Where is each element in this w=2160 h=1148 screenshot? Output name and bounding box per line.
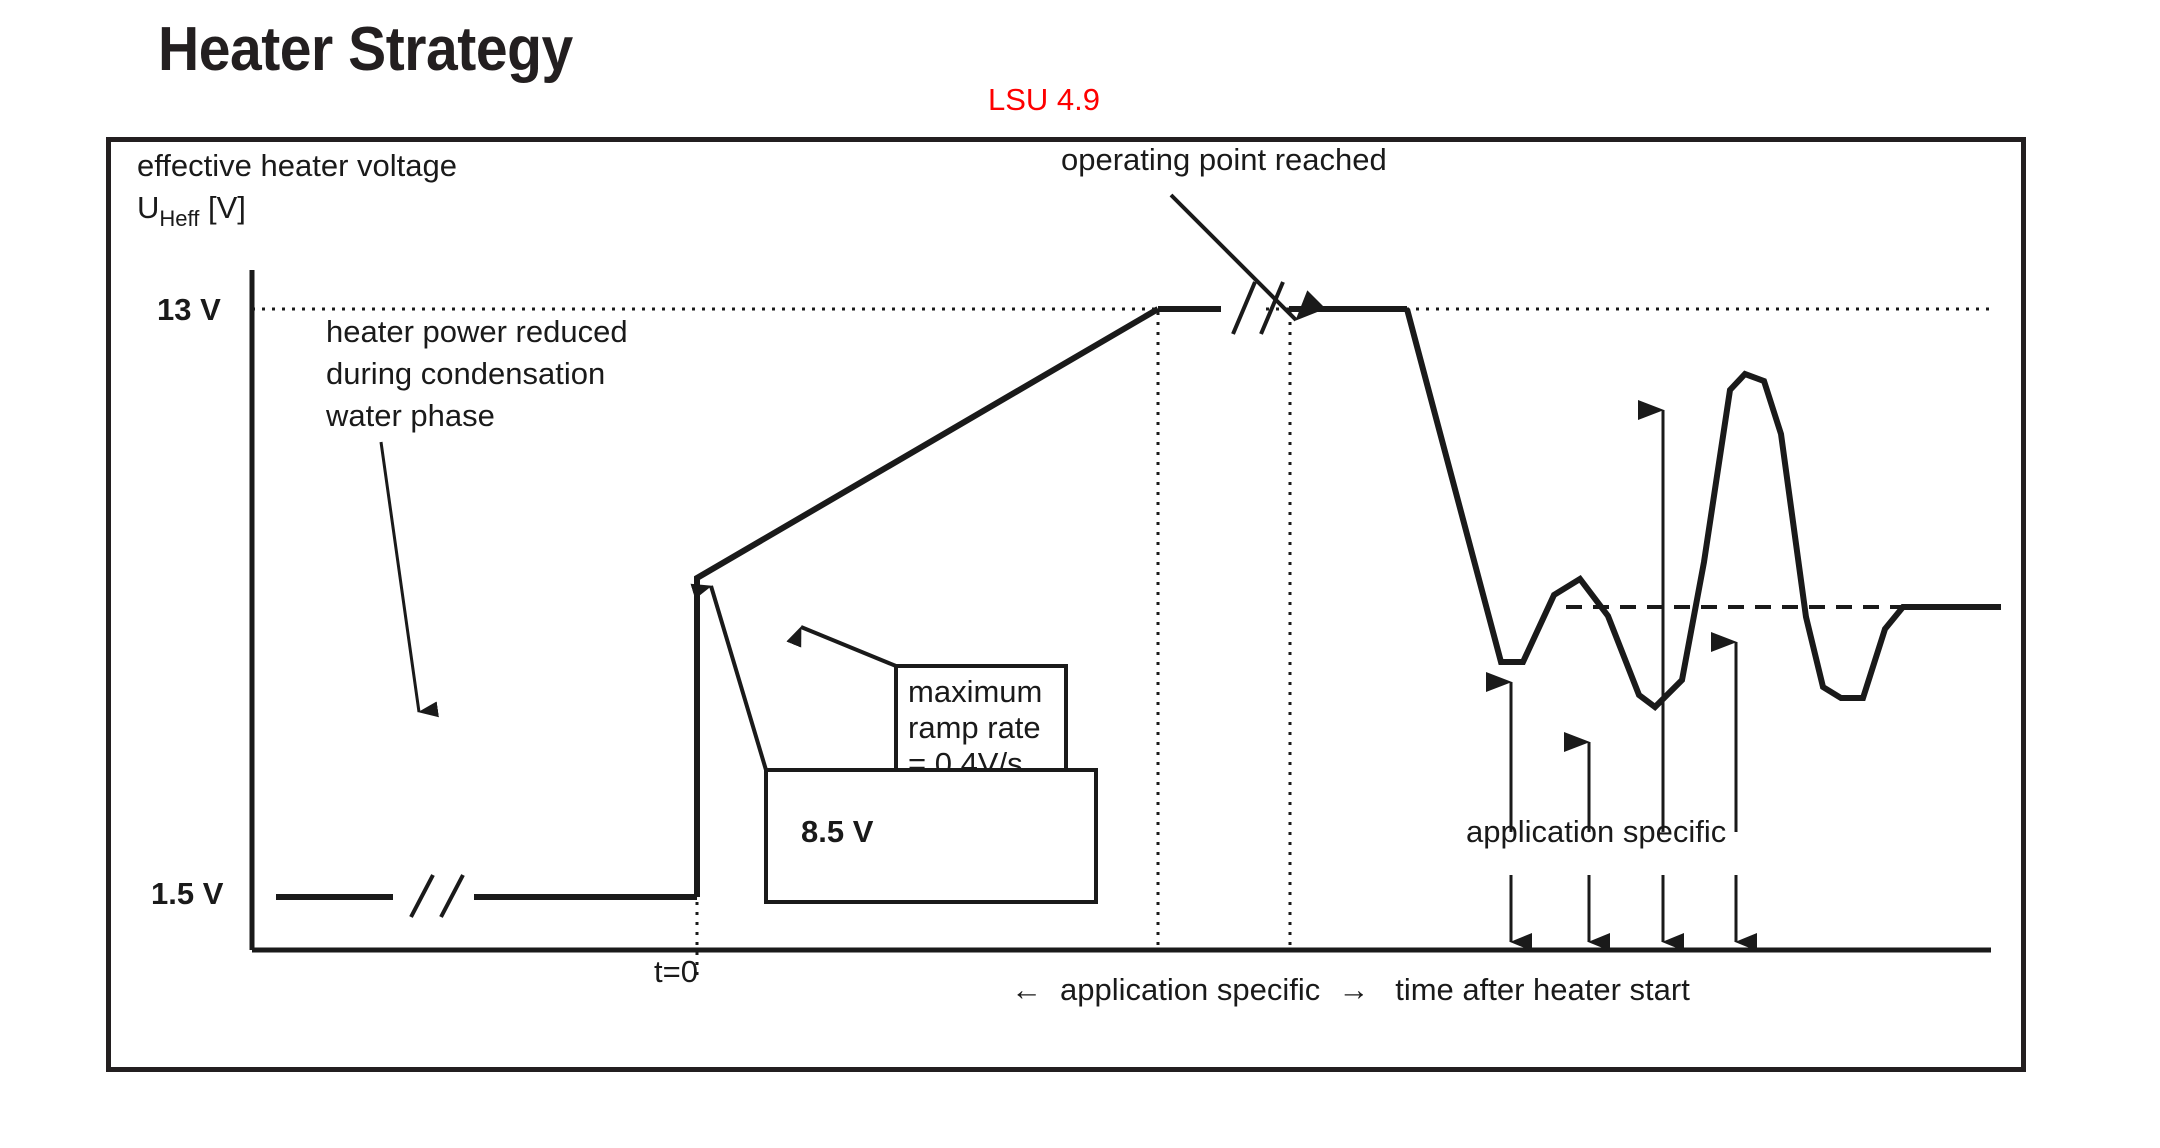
sensor-variant-label: LSU 4.9	[988, 82, 1100, 118]
annotation-ramp-line2: ramp rate	[908, 710, 1041, 745]
curve-control-waveform	[1407, 309, 2001, 707]
leader-operating-point	[1171, 195, 1296, 320]
leader-level-8p5v	[711, 586, 766, 770]
annotation-ramp-line1: maximum	[908, 674, 1042, 709]
page-title: Heater Strategy	[158, 14, 573, 85]
y-axis-symbol-subscript: Heff	[159, 206, 200, 231]
leader-ramp-rate	[801, 627, 896, 666]
y-tick-label-1p5v: 1.5 V	[151, 876, 224, 911]
x-axis-mid-label: application specific	[1060, 972, 1320, 1007]
annotation-condensation-line1: heater power reduced	[326, 314, 628, 349]
x-axis-origin-label: t=0	[654, 954, 698, 989]
annotation-operating-point: operating point reached	[1061, 142, 1387, 177]
heater-strategy-chart: effective heater voltage UHeff [V] 13 V …	[111, 142, 2031, 1077]
annotation-condensation-line3: water phase	[325, 398, 495, 433]
annotation-level-label: 8.5 V	[801, 814, 874, 849]
annotation-condensation-line2: during condensation	[326, 356, 605, 391]
break-symbol-plateau	[1233, 282, 1283, 334]
y-axis-caption-line1: effective heater voltage	[137, 148, 457, 183]
y-axis-symbol-u: U	[137, 190, 159, 225]
x-axis-caption: ←application specific→time after heater …	[1011, 972, 1690, 1007]
y-tick-label-13v: 13 V	[157, 292, 221, 327]
x-axis-left-arrow: ←	[1011, 972, 1042, 1007]
break-symbol-preheat	[411, 875, 463, 917]
annotation-application-specific: application specific	[1466, 814, 1726, 849]
y-axis-caption-symbol: UHeff [V]	[137, 190, 246, 231]
diagram-frame: effective heater voltage UHeff [V] 13 V …	[106, 137, 2026, 1072]
x-axis-right-arrow: →	[1338, 972, 1369, 1007]
x-axis-right-label: time after heater start	[1395, 972, 1690, 1007]
leader-condensation-arrow	[381, 442, 419, 712]
y-axis-symbol-unit: [V]	[199, 190, 246, 225]
